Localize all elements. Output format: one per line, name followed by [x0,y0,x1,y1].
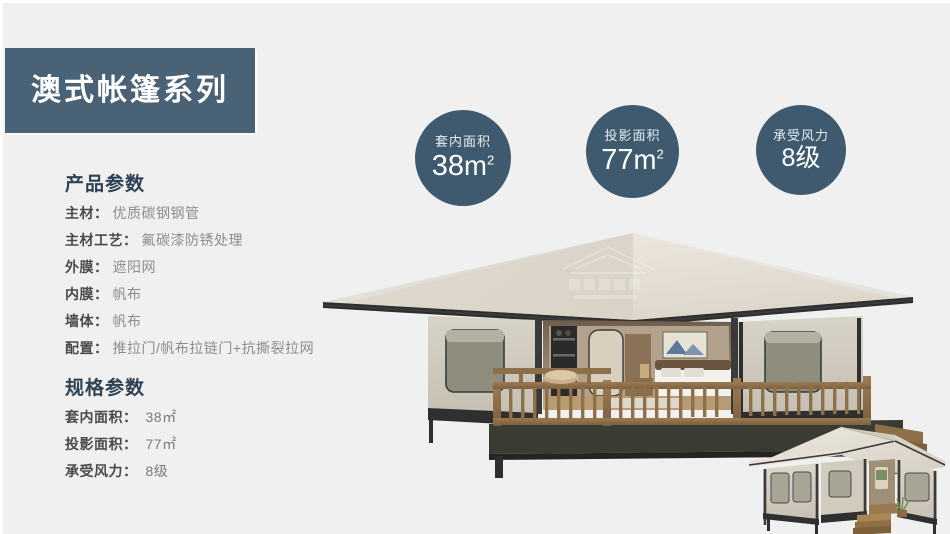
param-row-outer-membrane: 外膜： 遮阳网 [65,260,314,274]
param-value: 优质碳钢钢管 [113,206,200,220]
param-label: 主材： [65,206,109,220]
spec-row-wind-resistance: 承受风力： 8级 [65,464,177,478]
product-parameters-block: 产品参数 主材： 优质碳钢钢管 主材工艺： 氟碳漆防锈处理 外膜： 遮阳网 内膜… [59,169,314,368]
badge-unit: m [464,150,487,181]
product-parameters-heading: 产品参数 [65,169,314,196]
param-value: 遮阳网 [113,260,157,274]
param-label: 墙体： [65,314,109,328]
badge-caption: 套内面积 [435,135,491,148]
param-row-material-process: 主材工艺： 氟碳漆防锈处理 [65,233,314,247]
badge-caption: 承受风力 [773,129,829,142]
param-label: 外膜： [65,260,109,274]
spec-parameters-block: 规格参数 套内面积： 38㎡ 投影面积： 77㎡ 承受风力： 8级 [59,373,177,491]
param-value: 推拉门/帆布拉链门+抗撕裂拉网 [113,341,315,355]
badge-value: 8级 [782,146,821,171]
spec-label: 套内面积： [65,410,138,424]
param-row-main-material: 主材： 优质碳钢钢管 [65,206,314,220]
series-title-banner: 澳式帐篷系列 [5,48,255,133]
badge-number: 8级 [782,144,821,172]
spec-label: 承受风力： [65,464,138,478]
param-row-configuration: 配置： 推拉门/帆布拉链门+抗撕裂拉网 [65,341,314,355]
badge-unit: m [634,144,657,175]
param-value: 帆布 [113,287,142,301]
spec-value: 8级 [146,464,169,478]
param-value: 氟碳漆防锈处理 [142,233,244,247]
badge-interior-area: 套内面积 38m2 [415,110,511,206]
spec-label: 投影面积： [65,437,138,451]
badge-projected-area: 投影面积 77m2 [586,105,679,198]
badge-caption: 投影面积 [604,129,660,142]
badge-value: 77m2 [601,146,663,175]
param-label: 主材工艺： [65,233,138,247]
param-label: 配置： [65,341,109,355]
spec-row-projected-area: 投影面积： 77㎡ [65,437,177,451]
badge-wind-resistance: 承受风力 8级 [756,105,846,195]
slide-canvas: 澳式帐篷系列 产品参数 主材： 优质碳钢钢管 主材工艺： 氟碳漆防锈处理 外膜：… [0,0,950,534]
spec-parameters-heading: 规格参数 [65,373,177,400]
badge-number: 77 [601,144,633,176]
param-label: 内膜： [65,287,109,301]
param-row-wall: 墙体： 帆布 [65,314,314,328]
badge-superscript: 2 [656,146,663,161]
param-row-inner-membrane: 内膜： 帆布 [65,287,314,301]
spec-value: 77㎡ [146,437,177,451]
badge-value: 38m2 [432,152,494,181]
badge-number: 38 [432,150,464,182]
badge-superscript: 2 [487,152,494,167]
australian-tent-exterior-inset [745,415,950,534]
series-title-text: 澳式帐篷系列 [31,76,229,106]
spec-value: 38㎡ [146,410,177,424]
param-value: 帆布 [113,314,142,328]
spec-row-interior-area: 套内面积： 38㎡ [65,410,177,424]
